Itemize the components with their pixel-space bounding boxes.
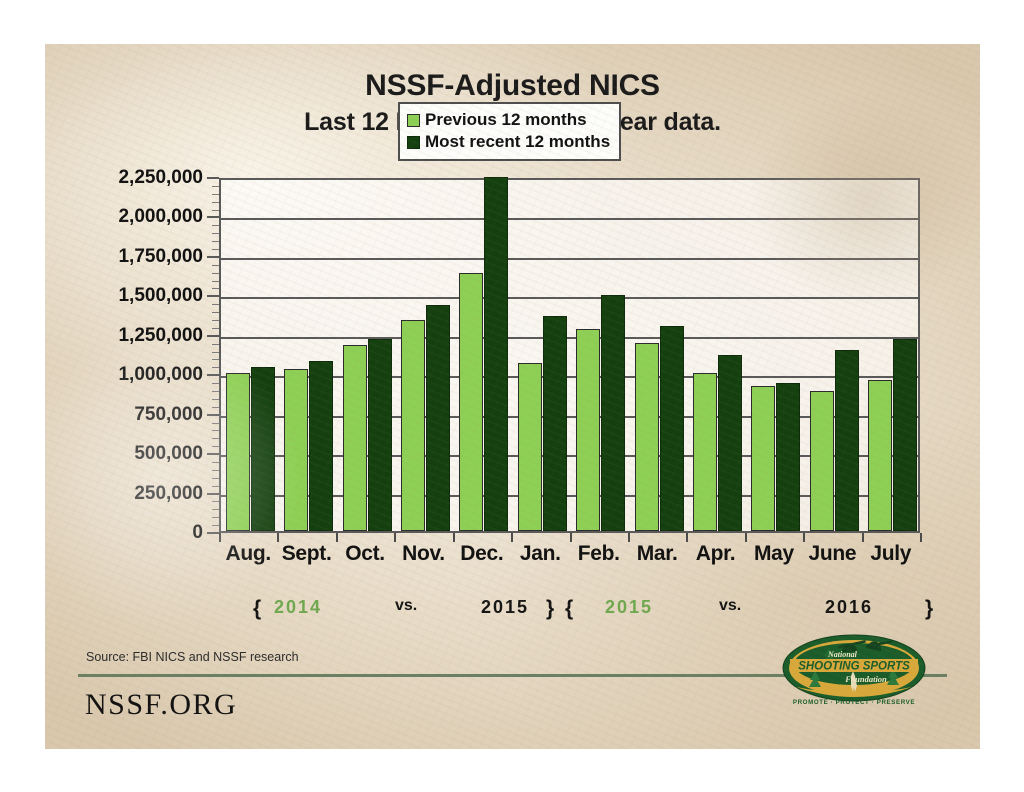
x-axis-tick-label: Oct.	[336, 542, 394, 566]
y-axis-tick-label: 2,250,000	[63, 167, 203, 189]
y-axis-minor-tick	[212, 501, 219, 502]
y-axis-minor-tick	[212, 423, 219, 424]
x-axis-tick	[453, 533, 455, 542]
y-axis-major-tick	[207, 295, 219, 297]
bar-most-recent-12-months	[368, 339, 392, 531]
y-axis-major-tick	[207, 374, 219, 376]
gridline	[221, 258, 918, 260]
brace-open-2: {	[565, 597, 573, 621]
x-axis-tick-label: July	[862, 542, 920, 566]
y-axis-tick-label: 0	[63, 522, 203, 544]
plot-area	[219, 178, 920, 533]
x-axis-tick-label: Feb.	[570, 542, 628, 566]
slide-canvas: NSSF-Adjusted NICS Last 12 Months year o…	[45, 44, 980, 749]
y-axis-tick-label: 1,500,000	[63, 285, 203, 307]
legend-label-previous: Previous 12 months	[425, 110, 587, 130]
y-axis-minor-tick	[212, 249, 219, 250]
x-axis-tick	[920, 533, 922, 542]
y-axis-major-tick	[207, 493, 219, 495]
x-axis-tick	[745, 533, 747, 542]
y-axis-minor-tick	[212, 241, 219, 242]
y-axis-minor-tick	[212, 281, 219, 282]
year-2015-second: 2015	[605, 597, 653, 618]
brace-close-2: }	[925, 597, 933, 621]
bar-previous-12-months	[343, 345, 367, 531]
logo-tagline-text: PROMOTE · PROTECT · PRESERVE	[793, 699, 915, 706]
x-axis-labels: Aug.Sept.Oct.Nov.Dec.Jan.Feb.Mar.Apr.May…	[219, 542, 922, 576]
y-axis-tick-label: 500,000	[63, 443, 203, 465]
bar-previous-12-months	[576, 329, 600, 531]
bar-most-recent-12-months	[893, 339, 917, 531]
bar-most-recent-12-months	[601, 295, 625, 531]
y-axis-minor-tick	[212, 233, 219, 234]
x-axis-tick	[686, 533, 688, 542]
y-axis-minor-tick	[212, 509, 219, 510]
vs-label-1: vs.	[395, 597, 417, 615]
y-axis-ticks	[207, 178, 219, 533]
y-axis-minor-tick	[212, 304, 219, 305]
x-axis-tick	[336, 533, 338, 542]
x-axis-tick	[862, 533, 864, 542]
gridline	[221, 337, 918, 339]
x-axis-tick	[511, 533, 513, 542]
gridline	[221, 218, 918, 220]
y-axis-minor-tick	[212, 517, 219, 518]
y-axis-minor-tick	[212, 391, 219, 392]
y-axis-labels: 2,250,0002,000,0001,750,0001,500,0001,25…	[63, 178, 203, 533]
x-axis-tick-label: Sept.	[277, 542, 335, 566]
y-axis-major-tick	[207, 414, 219, 416]
bar-most-recent-12-months	[484, 177, 508, 531]
y-axis-minor-tick	[212, 265, 219, 266]
y-axis-minor-tick	[212, 186, 219, 187]
x-axis-tick	[277, 533, 279, 542]
bar-most-recent-12-months	[251, 367, 275, 531]
bar-previous-12-months	[518, 363, 542, 531]
x-axis-ticks	[219, 533, 922, 542]
bar-previous-12-months	[635, 343, 659, 531]
y-axis-minor-tick	[212, 438, 219, 439]
x-axis-tick-label: May	[745, 542, 803, 566]
bar-most-recent-12-months	[543, 316, 567, 531]
y-axis-minor-tick	[212, 312, 219, 313]
bar-previous-12-months	[401, 320, 425, 531]
bar-previous-12-months	[226, 373, 250, 531]
y-axis-minor-tick	[212, 430, 219, 431]
y-axis-tick-label: 2,000,000	[63, 206, 203, 228]
source-note: Source: FBI NICS and NSSF research	[86, 650, 299, 664]
y-axis-minor-tick	[212, 344, 219, 345]
bar-most-recent-12-months	[776, 383, 800, 531]
bar-most-recent-12-months	[426, 305, 450, 531]
x-axis-tick-label: Mar.	[628, 542, 686, 566]
y-axis-minor-tick	[212, 210, 219, 211]
y-axis-minor-tick	[212, 328, 219, 329]
legend-item-recent: Most recent 12 months	[407, 131, 610, 153]
brace-close-1: }	[546, 597, 554, 621]
logo-national-text: National	[827, 650, 858, 659]
y-axis-tick-label: 250,000	[63, 483, 203, 505]
year-2015-first: 2015	[481, 597, 529, 618]
y-axis-minor-tick	[212, 202, 219, 203]
y-axis-minor-tick	[212, 359, 219, 360]
y-axis-major-tick	[207, 532, 219, 534]
y-axis-major-tick	[207, 256, 219, 258]
x-axis-tick-label: Apr.	[686, 542, 744, 566]
legend-swatch-previous	[407, 114, 420, 127]
chart-legend: Previous 12 months Most recent 12 months	[398, 102, 621, 161]
legend-swatch-recent	[407, 136, 420, 149]
logo-foundation-text: Foundation	[844, 674, 887, 684]
nssf-logo-graphic: National SHOOTING SPORTS Foundation PROM…	[780, 632, 928, 712]
y-axis-minor-tick	[212, 470, 219, 471]
y-axis-minor-tick	[212, 462, 219, 463]
x-axis-tick	[219, 533, 221, 542]
x-axis-tick-label: Jan.	[511, 542, 569, 566]
y-axis-minor-tick	[212, 407, 219, 408]
y-axis-major-tick	[207, 335, 219, 337]
y-axis-minor-tick	[212, 194, 219, 195]
bar-most-recent-12-months	[660, 326, 684, 531]
bar-previous-12-months	[284, 369, 308, 531]
x-axis-tick	[570, 533, 572, 542]
bar-previous-12-months	[693, 373, 717, 531]
brace-open-1: {	[253, 597, 261, 621]
y-axis-minor-tick	[212, 525, 219, 526]
nssf-logo: National SHOOTING SPORTS Foundation PROM…	[780, 632, 928, 712]
nssf-org-text: NSSF.ORG	[85, 688, 237, 722]
y-axis-minor-tick	[212, 478, 219, 479]
x-axis-tick-label: Aug.	[219, 542, 277, 566]
gridline	[221, 297, 918, 299]
bar-most-recent-12-months	[835, 350, 859, 531]
y-axis-minor-tick	[212, 225, 219, 226]
y-axis-tick-label: 1,750,000	[63, 246, 203, 268]
y-axis-minor-tick	[212, 446, 219, 447]
y-axis-major-tick	[207, 177, 219, 179]
bar-previous-12-months	[810, 391, 834, 531]
bar-most-recent-12-months	[718, 355, 742, 531]
y-axis-minor-tick	[212, 288, 219, 289]
x-axis-tick	[394, 533, 396, 542]
legend-label-recent: Most recent 12 months	[425, 132, 610, 152]
y-axis-minor-tick	[212, 486, 219, 487]
bar-previous-12-months	[751, 386, 775, 531]
bar-previous-12-months	[868, 380, 892, 531]
year-annotation-row: { 2014 vs. 2015 } { 2015 vs. 2016 }	[45, 597, 980, 631]
y-axis-major-tick	[207, 216, 219, 218]
y-axis-minor-tick	[212, 352, 219, 353]
bar-most-recent-12-months	[309, 361, 333, 531]
y-axis-minor-tick	[212, 320, 219, 321]
vs-label-2: vs.	[719, 597, 741, 615]
year-2014: 2014	[274, 597, 322, 618]
y-axis-tick-label: 1,000,000	[63, 364, 203, 386]
legend-item-previous: Previous 12 months	[407, 109, 610, 131]
y-axis-major-tick	[207, 453, 219, 455]
y-axis-tick-label: 750,000	[63, 404, 203, 426]
y-axis-minor-tick	[212, 399, 219, 400]
y-axis-minor-tick	[212, 367, 219, 368]
y-axis-minor-tick	[212, 273, 219, 274]
bar-previous-12-months	[459, 273, 483, 531]
x-axis-tick-label: Nov.	[394, 542, 452, 566]
x-axis-tick-label: June	[803, 542, 861, 566]
year-2016: 2016	[825, 597, 873, 618]
x-axis-tick-label: Dec.	[453, 542, 511, 566]
x-axis-tick	[803, 533, 805, 542]
logo-shooting-sports-text: SHOOTING SPORTS	[798, 661, 910, 673]
y-axis-tick-label: 1,250,000	[63, 325, 203, 347]
y-axis-minor-tick	[212, 383, 219, 384]
x-axis-tick	[628, 533, 630, 542]
